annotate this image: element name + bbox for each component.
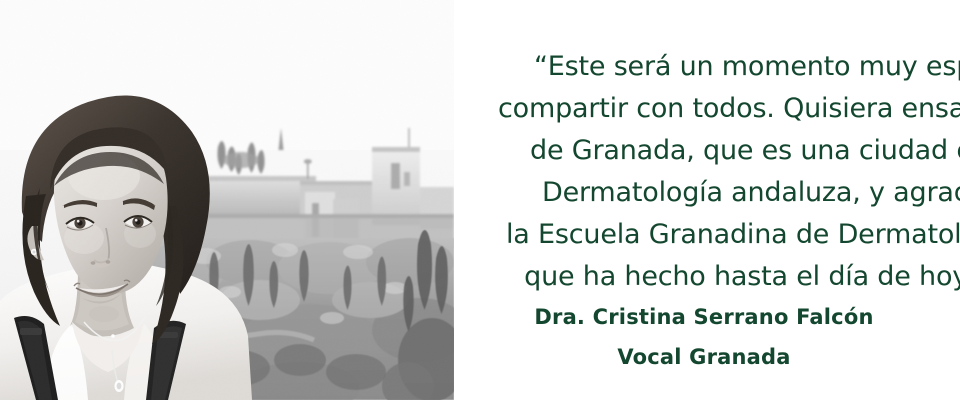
author-role: Vocal Granada: [454, 337, 954, 377]
quote-line-5: la Escuela Granadina de Dermatología to: [454, 214, 960, 256]
quote-line-4: Dermatología andaluza, y agradecer a: [454, 172, 960, 214]
quote-line-6: que ha hecho hasta el día de hoy”: [454, 256, 960, 298]
quote-line-1: “Este será un momento muy especial pa: [454, 46, 960, 88]
quote-line-2: compartir con todos. Quisiera ensalzar l…: [454, 88, 960, 130]
portrait-photo: [0, 0, 454, 400]
attribution: Dra. Cristina Serrano Falcón Vocal Grana…: [454, 297, 954, 377]
quote-text: “Este será un momento muy especial pa co…: [454, 46, 960, 298]
author-name: Dra. Cristina Serrano Falcón: [454, 297, 954, 337]
quote-text-panel: “Este será un momento muy especial pa co…: [454, 0, 960, 400]
quote-line-3: de Granada, que es una ciudad cuna de: [454, 130, 960, 172]
portrait-photo-image: [0, 0, 454, 400]
quote-card: “Este será un momento muy especial pa co…: [0, 0, 960, 400]
